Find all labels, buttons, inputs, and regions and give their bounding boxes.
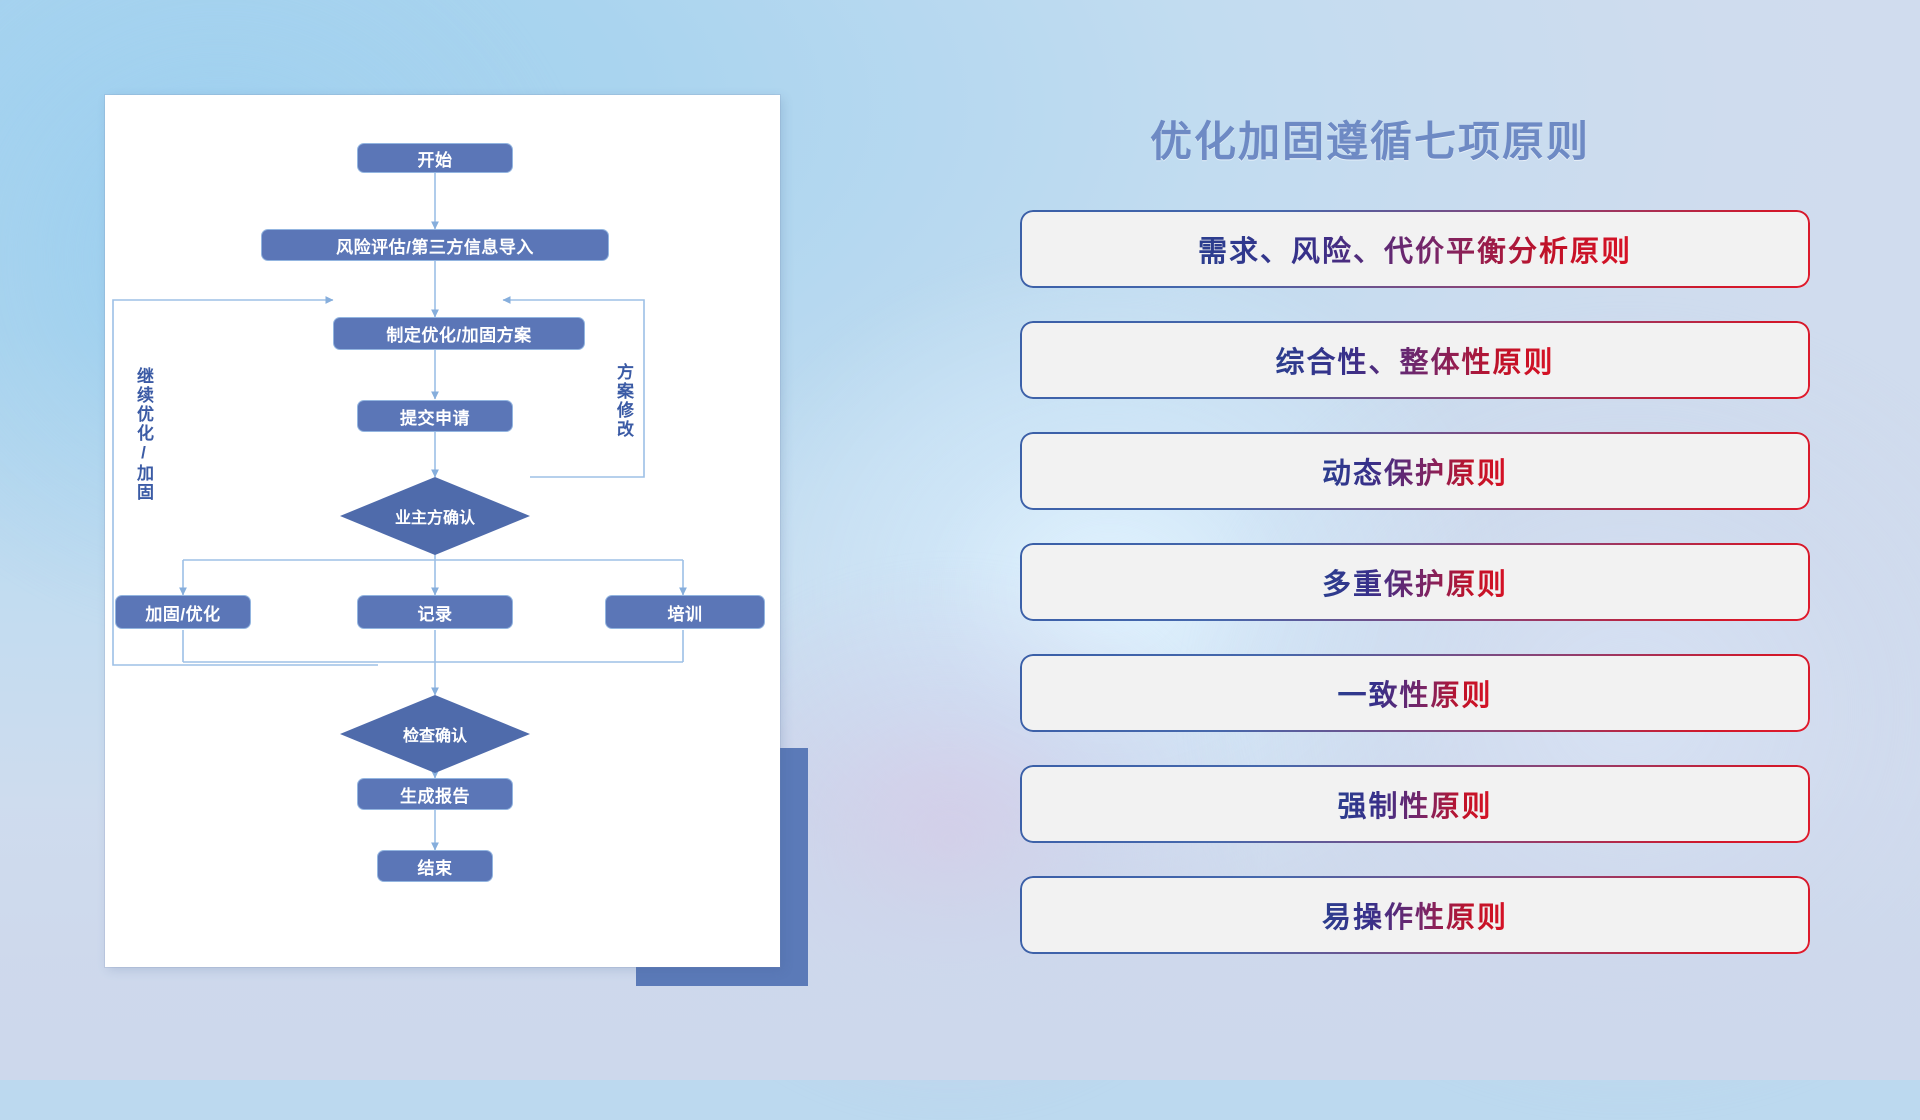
- flow-node-make-plan[interactable]: 制定优化/加固方案: [333, 317, 585, 350]
- principle-card[interactable]: 多重保护原则: [1020, 543, 1810, 621]
- flow-label-continue-optimize: 继续优化/加固: [135, 367, 152, 502]
- principles-list: 需求、风险、代价平衡分析原则 综合性、整体性原则 动态保护原则 多重保护原则 一…: [1020, 210, 1820, 987]
- principle-card[interactable]: 强制性原则: [1020, 765, 1810, 843]
- flowchart-card: 开始 风险评估/第三方信息导入 制定优化/加固方案 提交申请 业主方确认 加固/…: [105, 95, 780, 967]
- principle-label: 强制性原则: [1337, 783, 1492, 825]
- principle-card[interactable]: 动态保护原则: [1020, 432, 1810, 510]
- flow-node-label: 风险评估/第三方信息导入: [336, 233, 534, 258]
- principle-card[interactable]: 综合性、整体性原则: [1020, 321, 1810, 399]
- flow-node-reinforce[interactable]: 加固/优化: [115, 595, 251, 629]
- principle-label: 多重保护原则: [1322, 561, 1508, 603]
- flow-node-gen-report[interactable]: 生成报告: [357, 778, 513, 810]
- principle-card[interactable]: 易操作性原则: [1020, 876, 1810, 954]
- principle-label: 需求、风险、代价平衡分析原则: [1198, 228, 1632, 270]
- flow-node-label: 生成报告: [400, 782, 470, 807]
- flow-node-label: 加固/优化: [145, 600, 220, 625]
- flow-node-label: 提交申请: [400, 404, 470, 429]
- flow-node-training[interactable]: 培训: [605, 595, 765, 629]
- flow-node-label: 结束: [418, 854, 453, 879]
- flow-node-label: 培训: [668, 600, 703, 625]
- principles-panel: 优化加固遵循七项原则 需求、风险、代价平衡分析原则 综合性、整体性原则 动态保护…: [1020, 90, 1860, 1020]
- flow-node-owner-confirm[interactable]: 业主方确认: [340, 477, 530, 555]
- flow-node-risk-assess[interactable]: 风险评估/第三方信息导入: [261, 229, 609, 261]
- flow-label-plan-revision: 方案修改: [615, 363, 632, 439]
- principle-label: 动态保护原则: [1322, 450, 1508, 492]
- flow-node-submit[interactable]: 提交申请: [357, 400, 513, 432]
- flow-node-end[interactable]: 结束: [377, 850, 493, 882]
- flow-node-start[interactable]: 开始: [357, 143, 513, 173]
- flow-node-label: 记录: [418, 600, 453, 625]
- flow-node-record[interactable]: 记录: [357, 595, 513, 629]
- principle-label: 一致性原则: [1337, 672, 1492, 714]
- page-title: 优化加固遵循七项原则: [1150, 108, 1590, 169]
- flow-node-label: 开始: [418, 146, 453, 171]
- principle-card[interactable]: 一致性原则: [1020, 654, 1810, 732]
- flow-node-label: 制定优化/加固方案: [386, 321, 531, 346]
- flow-node-label: 检查确认: [403, 722, 467, 746]
- principle-label: 综合性、整体性原则: [1275, 339, 1554, 381]
- principle-card[interactable]: 需求、风险、代价平衡分析原则: [1020, 210, 1810, 288]
- flow-node-label: 业主方确认: [395, 504, 475, 528]
- principle-label: 易操作性原则: [1322, 894, 1508, 936]
- flow-node-check-confirm[interactable]: 检查确认: [340, 695, 530, 773]
